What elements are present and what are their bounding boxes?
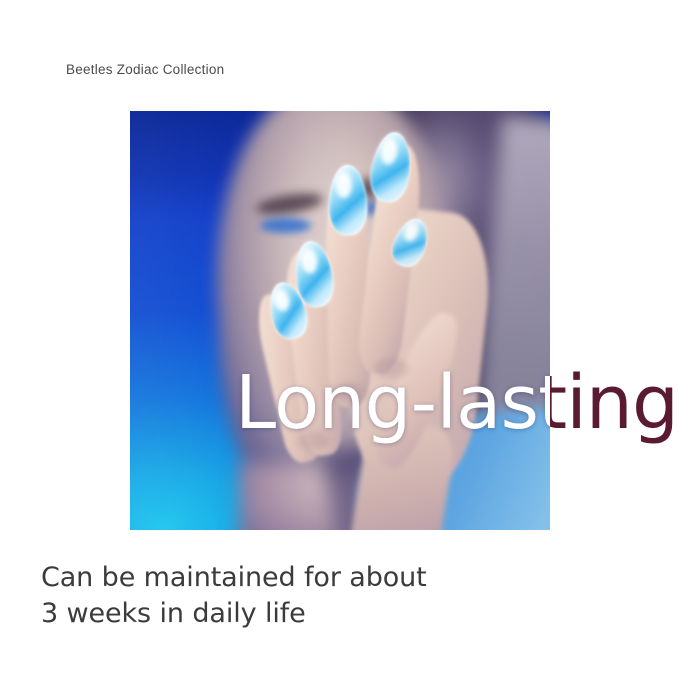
- brand-collection-label: Beetles Zodiac Collection: [66, 62, 224, 77]
- caption-line-2: 3 weeks in daily life: [41, 596, 427, 632]
- photo-content: [130, 111, 550, 530]
- product-photo: [130, 111, 550, 530]
- nail-highlight: [271, 287, 291, 312]
- model-hand: [264, 119, 524, 530]
- nail-highlight: [299, 247, 318, 274]
- nail-highlight: [380, 137, 400, 166]
- knuckle-middle: [332, 382, 366, 403]
- caption-block: Can be maintained for about 3 weeks in d…: [41, 560, 427, 632]
- caption-line-1: Can be maintained for about: [41, 560, 427, 596]
- knuckle-index: [374, 358, 408, 379]
- poster-canvas: Beetles Zodiac Collection: [0, 0, 679, 679]
- nail-highlight: [336, 171, 353, 198]
- nail-middle: [329, 164, 368, 234]
- nail-highlight: [401, 221, 420, 243]
